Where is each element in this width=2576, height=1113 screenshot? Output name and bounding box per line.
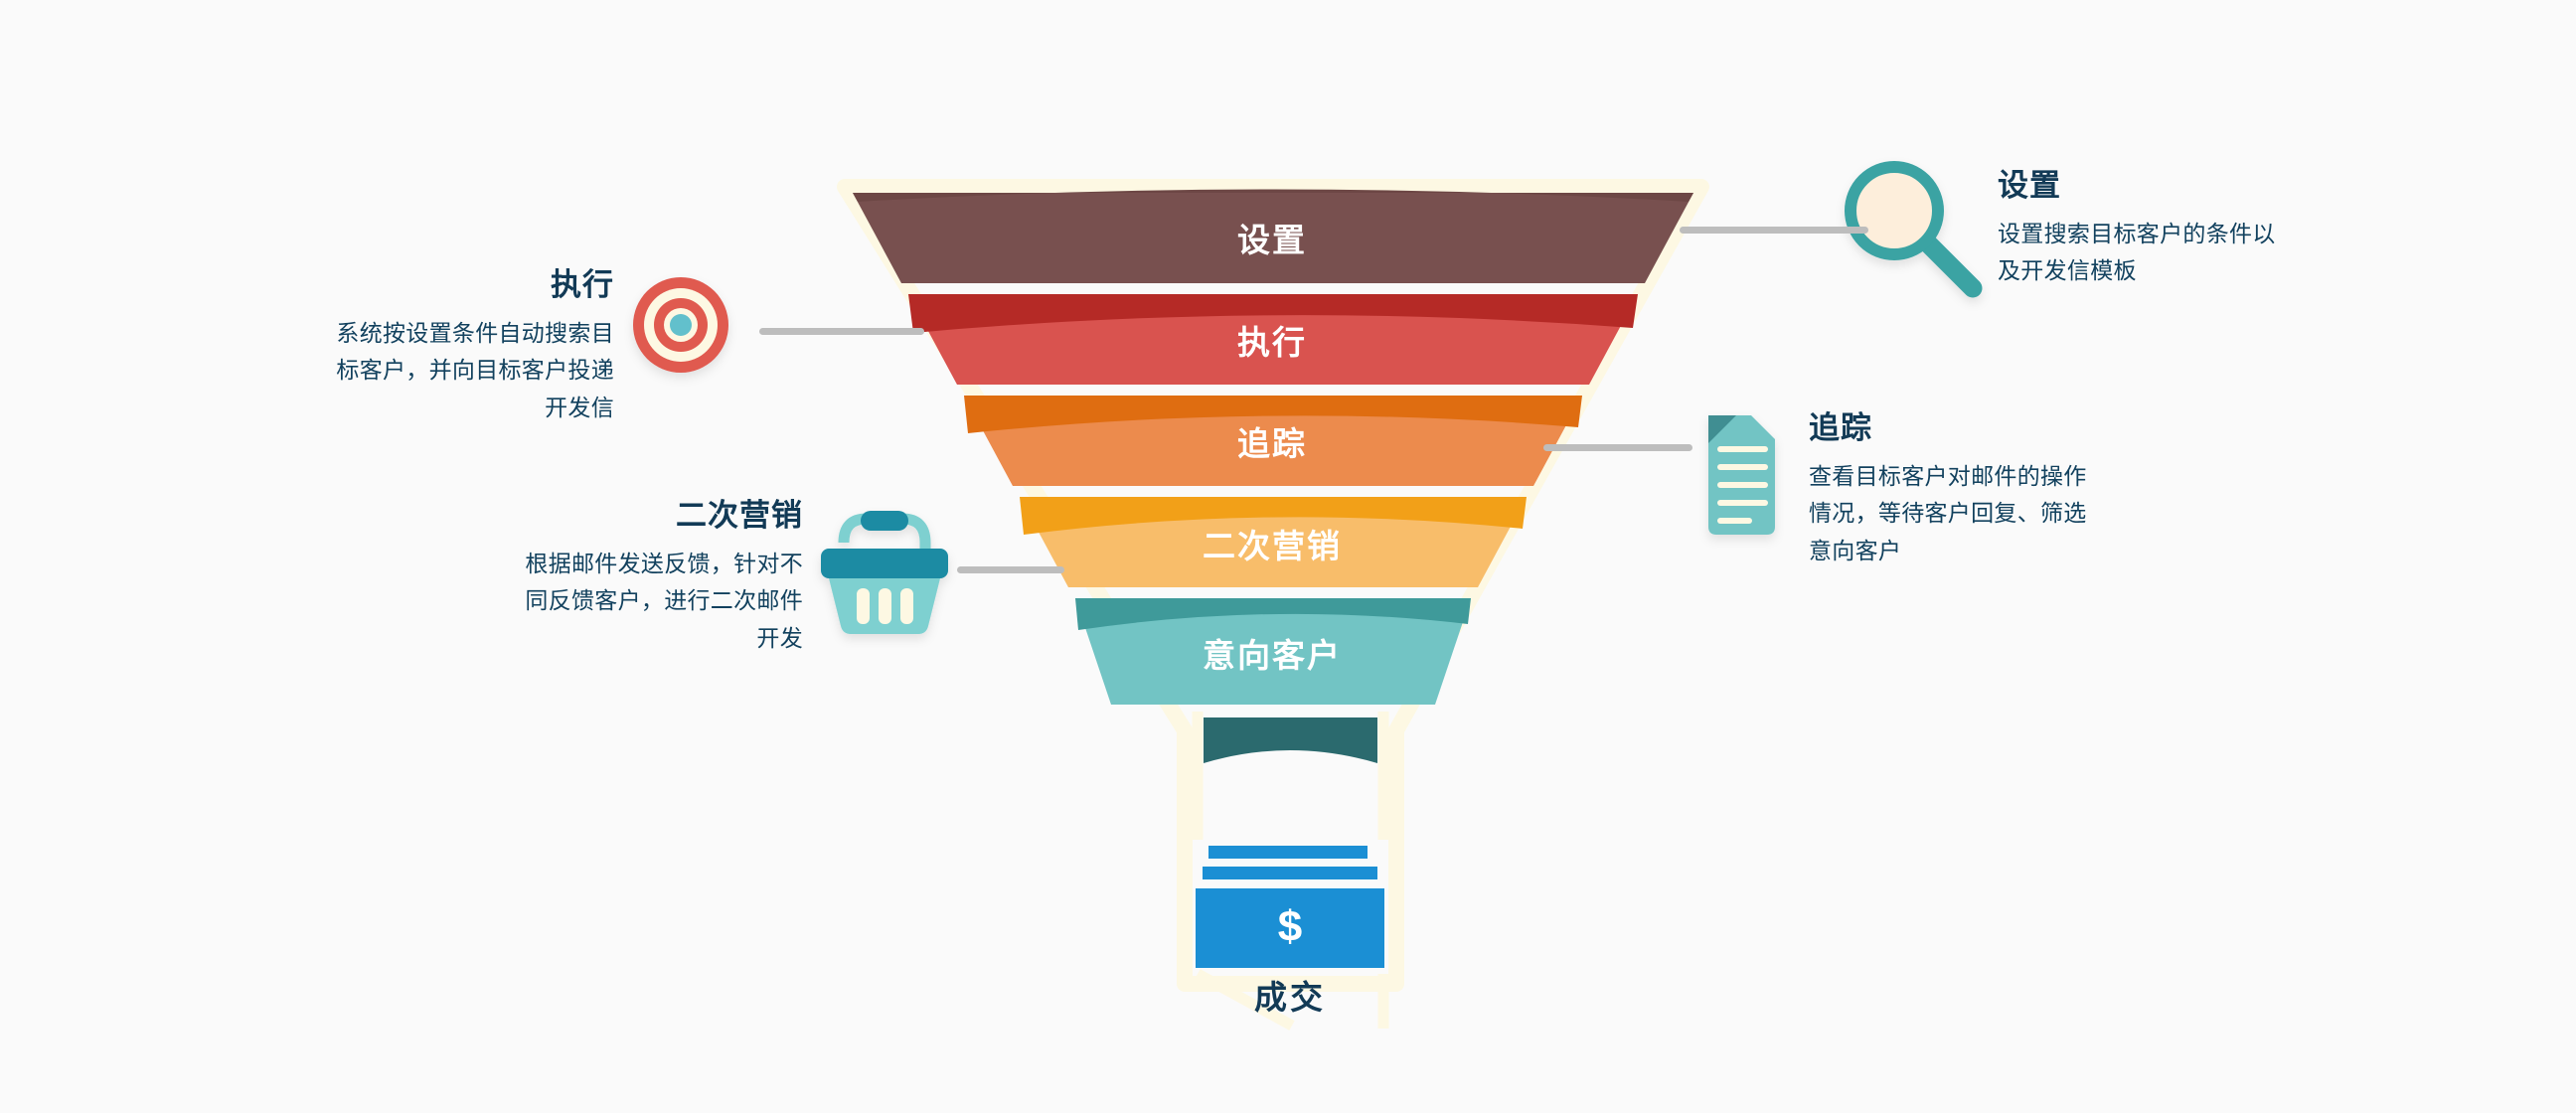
funnel-neck <box>1204 717 1377 763</box>
annotation-setting[interactable]: 设置 设置搜索目标客户的条件以 及开发信模板 <box>1998 167 2455 290</box>
funnel-infographic: 设置 执行 追踪 二次营销 意向客户 $ 成交 设置 设置搜索目标客户的条件以 … <box>0 0 2576 1113</box>
money-bar-mid <box>1203 867 1377 879</box>
annotation-remarket-body: 根据邮件发送反馈，针对不 同反馈客户，进行二次邮件 开发 <box>368 546 803 657</box>
document-icon <box>1708 415 1775 535</box>
annotation-remarket-title: 二次营销 <box>368 497 803 534</box>
annotation-track-title: 追踪 <box>1809 409 2246 446</box>
funnel-stage-remarket[interactable] <box>1020 497 1527 587</box>
funnel-stage-execute[interactable] <box>908 294 1638 385</box>
funnel-stage-track[interactable] <box>964 396 1582 486</box>
money-block <box>1196 888 1384 968</box>
funnel-stage-setting[interactable] <box>853 190 1693 284</box>
basket-icon <box>821 511 948 634</box>
connector-remarket-line <box>957 566 1064 573</box>
annotation-setting-line-1: 设置搜索目标客户的条件以 <box>1998 216 2455 252</box>
annotation-execute-title: 执行 <box>179 266 614 303</box>
connector-setting-line <box>1680 227 1868 234</box>
annotation-track-line-3: 意向客户 <box>1809 533 2246 569</box>
annotation-execute-line-3: 开发信 <box>179 390 614 426</box>
deal-label: 成交 <box>1091 971 1489 1019</box>
connector-execute-line <box>759 328 924 335</box>
annotation-track-line-1: 查看目标客户对邮件的操作 <box>1809 458 2246 495</box>
annotation-execute-line-1: 系统按设置条件自动搜索目 <box>179 315 614 352</box>
annotation-execute-body: 系统按设置条件自动搜索目 标客户，并向目标客户投递 开发信 <box>179 315 614 426</box>
target-icon <box>633 277 728 373</box>
funnel-stage-prospects[interactable] <box>1075 598 1471 705</box>
annotation-track-line-2: 情况，等待客户回复、筛选 <box>1809 495 2246 532</box>
annotation-setting-body: 设置搜索目标客户的条件以 及开发信模板 <box>1998 216 2455 290</box>
annotation-execute[interactable]: 执行 系统按设置条件自动搜索目 标客户，并向目标客户投递 开发信 <box>179 266 614 426</box>
annotation-setting-title: 设置 <box>1998 167 2455 204</box>
annotation-execute-line-2: 标客户，并向目标客户投递 <box>179 352 614 389</box>
annotation-remarket-line-1: 根据邮件发送反馈，针对不 <box>368 546 803 582</box>
annotation-remarket-line-3: 开发 <box>368 620 803 657</box>
annotation-remarket-line-2: 同反馈客户，进行二次邮件 <box>368 582 803 619</box>
annotation-remarket[interactable]: 二次营销 根据邮件发送反馈，针对不 同反馈客户，进行二次邮件 开发 <box>368 497 803 657</box>
money-bar-top <box>1208 846 1368 859</box>
connector-track-line <box>1543 444 1692 451</box>
annotation-setting-line-2: 及开发信模板 <box>1998 252 2455 289</box>
annotation-track-body: 查看目标客户对邮件的操作 情况，等待客户回复、筛选 意向客户 <box>1809 458 2246 569</box>
magnifier-icon <box>1851 167 1973 288</box>
annotation-track[interactable]: 追踪 查看目标客户对邮件的操作 情况，等待客户回复、筛选 意向客户 <box>1809 409 2246 569</box>
